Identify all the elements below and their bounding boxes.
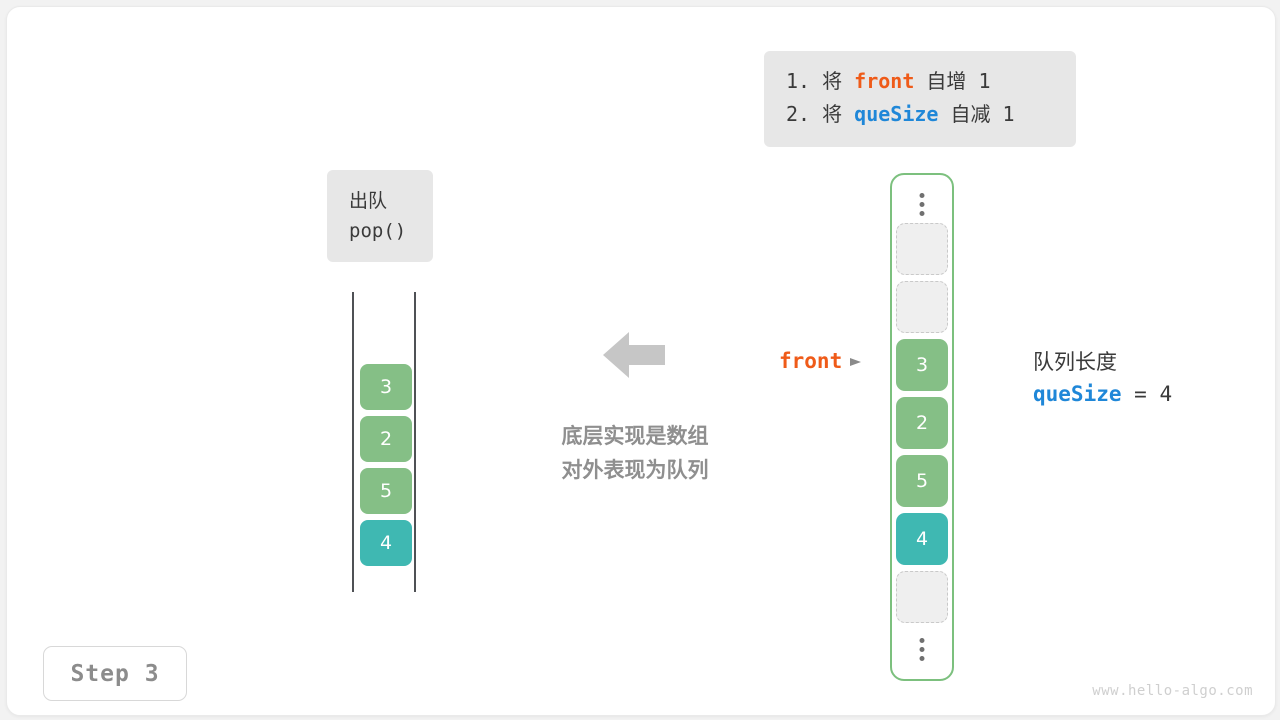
queue-cell: 4: [360, 520, 412, 566]
queue-cell: 2: [360, 416, 412, 462]
instruction-1-keyword: front: [854, 69, 914, 93]
diagram-caption: 底层实现是数组 对外表现为队列: [535, 419, 735, 487]
instruction-line-2: 2. 将 queSize 自减 1: [786, 98, 1054, 131]
instruction-1-suffix: 自增 1: [914, 69, 990, 93]
dot: [920, 647, 925, 652]
array-cell: 2: [896, 397, 948, 449]
step-badge: Step 3: [43, 646, 187, 701]
quesize-title: 队列长度: [1033, 347, 1172, 377]
instruction-2-prefix: 将: [822, 102, 854, 126]
array-cell-stack: 3 2 5 4: [896, 223, 948, 629]
left-arrow-icon: [603, 329, 665, 381]
array-cell: 3: [896, 339, 948, 391]
array-cell-empty: [896, 571, 948, 623]
instruction-2-index: 2.: [786, 102, 822, 126]
diagram-canvas: 1. 将 front 自增 1 2. 将 queSize 自减 1 出队 pop…: [0, 0, 1280, 720]
array-container: 3 2 5 4: [890, 173, 954, 681]
instruction-1-prefix: 将: [822, 69, 854, 93]
operation-title: 出队: [349, 186, 387, 216]
diagram-card: 1. 将 front 自增 1 2. 将 queSize 自减 1 出队 pop…: [6, 6, 1276, 716]
quesize-value: 4: [1159, 382, 1172, 406]
front-pointer: front: [779, 349, 863, 373]
dot: [920, 202, 925, 207]
array-cell: 5: [896, 455, 948, 507]
instruction-box: 1. 将 front 自增 1 2. 将 queSize 自减 1: [764, 51, 1076, 147]
ellipsis-top-icon: [920, 193, 925, 216]
pointer-arrow-icon: [849, 354, 863, 368]
caption-line-1: 底层实现是数组: [535, 419, 735, 453]
instruction-1-index: 1.: [786, 69, 822, 93]
queue-cell: 5: [360, 468, 412, 514]
quesize-expression: queSize = 4: [1033, 377, 1172, 411]
array-cell-empty: [896, 281, 948, 333]
queue-abstract-view: 3 2 5 4: [352, 292, 416, 592]
operation-method: pop(): [349, 216, 406, 246]
quesize-annotation: 队列长度 queSize = 4: [1033, 347, 1172, 411]
queue-rail-left: [352, 292, 354, 592]
queue-cell: 3: [360, 364, 412, 410]
queue-rail-right: [414, 292, 416, 592]
instruction-2-suffix: 自减 1: [938, 102, 1014, 126]
ellipsis-bottom-icon: [920, 638, 925, 661]
instruction-2-keyword: queSize: [854, 102, 938, 126]
dot: [920, 638, 925, 643]
operation-label-box: 出队 pop(): [327, 170, 433, 262]
quesize-equals: =: [1122, 382, 1160, 406]
queue-cell-stack: 3 2 5 4: [360, 364, 412, 572]
caption-line-2: 对外表现为队列: [535, 453, 735, 487]
dot: [920, 211, 925, 216]
array-cell: 4: [896, 513, 948, 565]
dot: [920, 656, 925, 661]
quesize-variable: queSize: [1033, 382, 1122, 406]
instruction-line-1: 1. 将 front 自增 1: [786, 65, 1054, 98]
watermark: www.hello-algo.com: [1092, 683, 1253, 699]
dot: [920, 193, 925, 198]
front-pointer-label: front: [779, 349, 842, 373]
array-cell-empty: [896, 223, 948, 275]
